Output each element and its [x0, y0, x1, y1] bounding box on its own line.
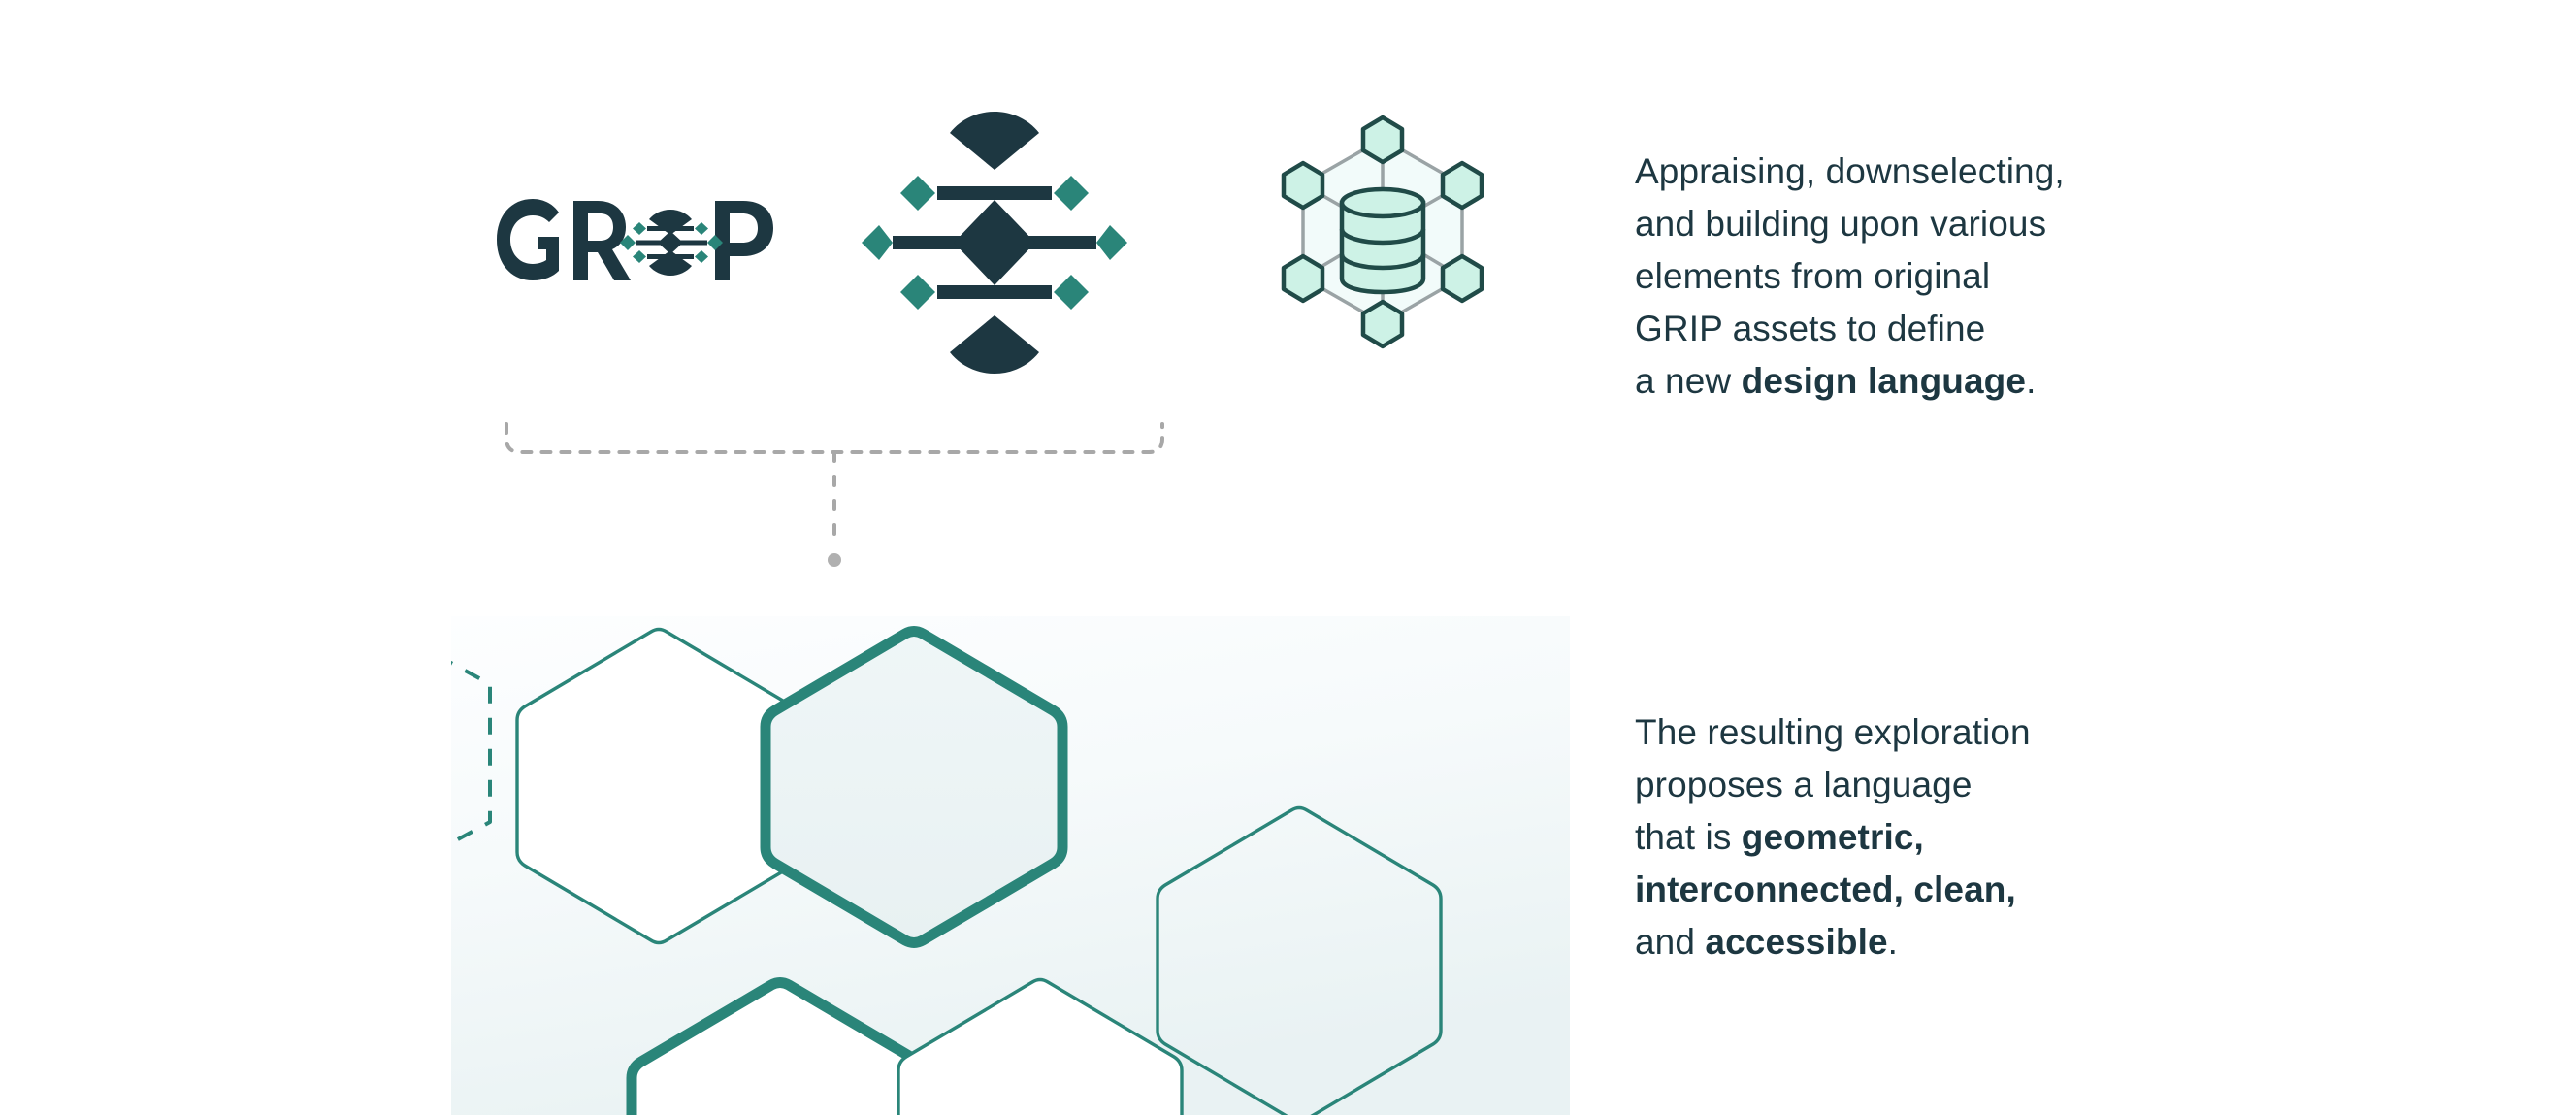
- dashed-bracket-connector: [485, 417, 1184, 577]
- p2-line-3-prefix: that is: [1635, 817, 1742, 857]
- p2-line-5-prefix: and: [1635, 922, 1705, 962]
- bracket-path: [506, 424, 1162, 452]
- p1-line-5-prefix: a new: [1635, 361, 1742, 401]
- p1-line-3: elements from original: [1635, 256, 1990, 296]
- p2-emphasis-geometric: geometric,: [1742, 817, 1924, 857]
- p1-line-4: GRIP assets to define: [1635, 309, 1985, 348]
- page-canvas: Appraising, downselecting, and building …: [0, 0, 2576, 1115]
- paragraph-resulting-exploration: The resulting exploration proposes a lan…: [1635, 706, 2217, 968]
- p1-line-5-suffix: .: [2026, 361, 2036, 401]
- p1-emphasis-design-language: design language: [1742, 361, 2026, 401]
- p2-emphasis-interconnected-clean: interconnected, clean,: [1635, 869, 2016, 909]
- paragraph-design-language: Appraising, downselecting, and building …: [1635, 146, 2217, 408]
- data-cube-hexagon-icon: [1227, 92, 1538, 393]
- p2-line-1: The resulting exploration: [1635, 712, 2031, 752]
- p1-line-1: Appraising, downselecting,: [1635, 151, 2065, 191]
- grip-wordmark-logo: [451, 92, 820, 393]
- bracket-endpoint-dot: [828, 553, 841, 567]
- icon-row: [451, 92, 1572, 393]
- p2-line-2: proposes a language: [1635, 765, 1973, 804]
- p2-line-5-suffix: .: [1888, 922, 1898, 962]
- p2-emphasis-accessible: accessible: [1705, 922, 1887, 962]
- hexagon-exploration-panel: [451, 616, 1570, 1115]
- network-node-diagram-icon: [839, 92, 1150, 393]
- p1-line-2: and building upon various: [1635, 204, 2046, 244]
